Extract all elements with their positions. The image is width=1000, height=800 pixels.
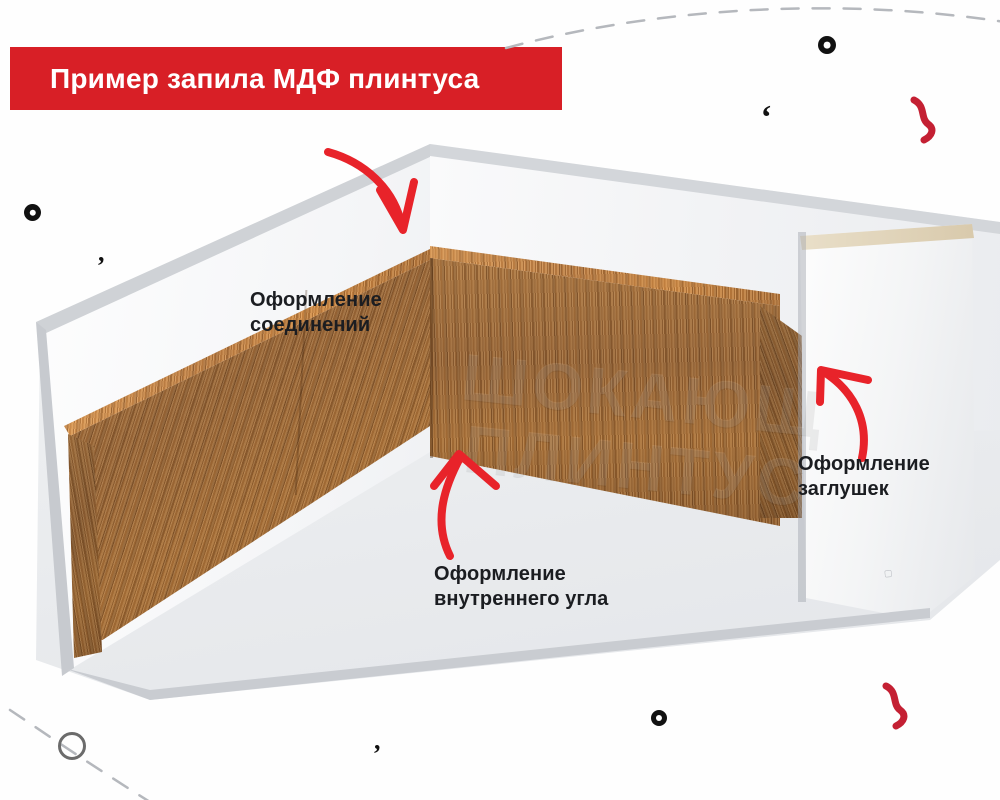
title-banner: Пример запила МДФ плинтуса xyxy=(10,47,562,110)
arrow-inner-corner xyxy=(412,438,532,563)
label-inner-corner: Оформление внутреннего угла xyxy=(434,562,608,612)
arrow-end-caps xyxy=(800,350,920,465)
image-canvas: ▢ ШОКАЮЩ ПЛИНТУС Оформление соединений О… xyxy=(0,0,1000,800)
label-end-caps: Оформление заглушек xyxy=(798,452,930,502)
arrow-joints xyxy=(322,138,442,243)
banner-title: Пример запила МДФ плинтуса xyxy=(50,63,479,95)
label-joints: Оформление соединений xyxy=(250,288,382,338)
floor-stamp: ▢ xyxy=(883,568,894,580)
